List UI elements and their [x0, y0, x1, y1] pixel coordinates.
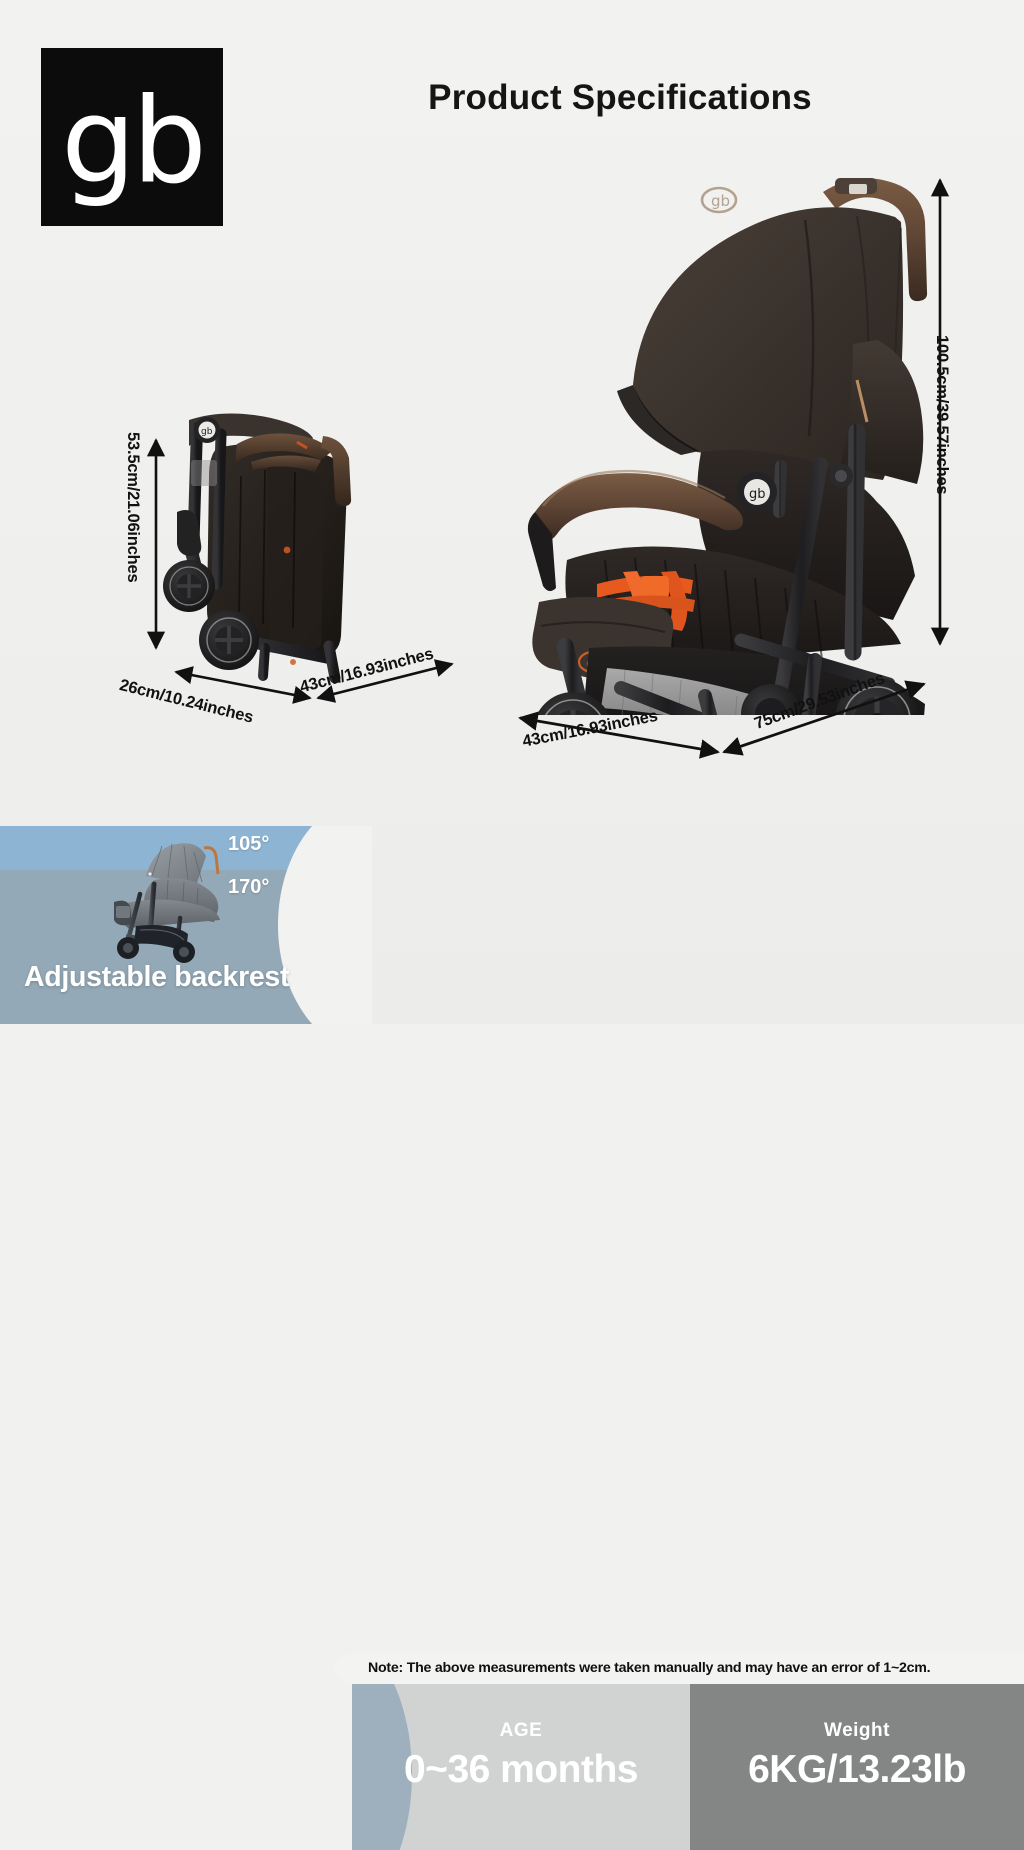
feature-panels-strip: Note: The above measurements were taken …: [0, 826, 1024, 1024]
stroller-recline-side-view: [100, 840, 235, 965]
panel-weight: Weight 6KG/13.23lb: [690, 1684, 1024, 1850]
product-specification-sheet: gb Product Specifications: [0, 0, 1024, 1024]
recline-angle-lower: 170°: [228, 876, 269, 899]
dim-label-folded-height: 53.5cm/21.06inches: [123, 432, 142, 583]
panel-backrest-curve: [278, 826, 372, 1024]
measurement-note-bar: Note: The above measurements were taken …: [333, 1652, 1024, 1684]
measurement-note-text: Note: The above measurements were taken …: [368, 1660, 930, 1676]
age-value: 0~36 months: [352, 1748, 690, 1792]
backrest-caption: Adjustable backrest: [24, 961, 289, 994]
weight-value: 6KG/13.23lb: [690, 1748, 1024, 1792]
age-label: AGE: [352, 1720, 690, 1742]
panel-age: AGE 0~36 months: [352, 1684, 690, 1850]
dim-label-main-height: 100.5cm/39.57inches: [932, 335, 951, 494]
recline-angle-upper: 105°: [228, 833, 269, 856]
weight-label: Weight: [690, 1720, 1024, 1742]
panel-adjustable-backrest: [0, 826, 372, 1024]
